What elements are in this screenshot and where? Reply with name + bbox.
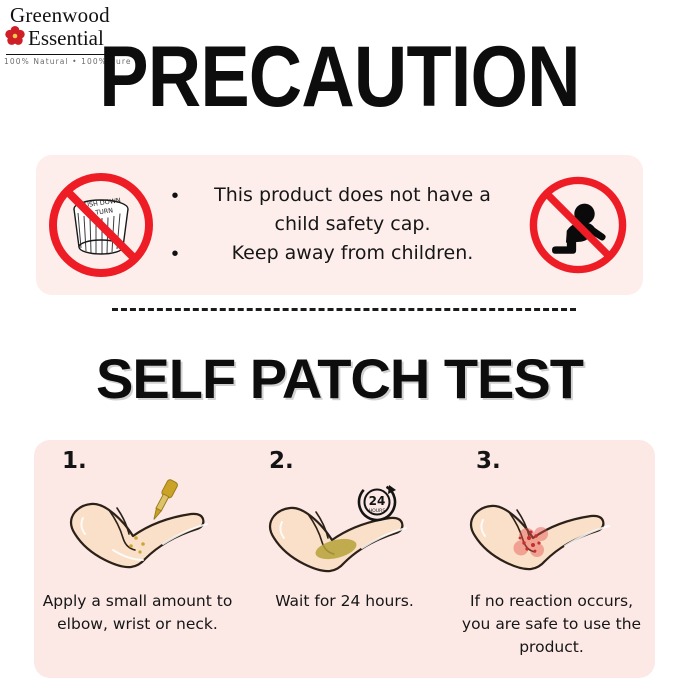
bullet-text: Keep away from children. bbox=[196, 239, 509, 268]
section-divider bbox=[112, 308, 576, 311]
elbow-with-24-hour-timer-icon: 24 HOURS bbox=[250, 472, 440, 590]
no-children-icon-slot bbox=[513, 173, 643, 277]
self-patch-test-steps-panel: 1. bbox=[34, 440, 655, 678]
no-child-safety-cap-icon: PUSH DOWN & TURN bbox=[45, 169, 157, 281]
page-title-self-patch-test: SELF PATCH TEST bbox=[0, 348, 679, 410]
step-card-2: 2. 24 bbox=[241, 440, 448, 678]
precaution-bullets: • This product does not have a child saf… bbox=[166, 181, 513, 269]
bullet-item: • Keep away from children. bbox=[166, 239, 509, 269]
step-number: 1. bbox=[62, 448, 87, 474]
page-title-precaution: PRECAUTION bbox=[48, 34, 632, 120]
step-number: 3. bbox=[476, 448, 501, 474]
step-caption: Wait for 24 hours. bbox=[267, 590, 422, 613]
bullet-text: This product does not have a child safet… bbox=[196, 181, 509, 239]
flower-icon bbox=[4, 25, 26, 52]
no-children-icon bbox=[526, 173, 630, 277]
precaution-panel: PUSH DOWN & TURN • This product does not… bbox=[36, 155, 643, 295]
bullet-item: • This product does not have a child saf… bbox=[166, 181, 509, 239]
elbow-with-rash-icon bbox=[457, 472, 647, 590]
bullet-dot-icon: • bbox=[166, 181, 184, 211]
step-card-3: 3. bbox=[448, 440, 655, 678]
step-number: 2. bbox=[269, 448, 294, 474]
timer-badge-value: 24 bbox=[368, 494, 385, 508]
step-caption: Apply a small amount to elbow, wrist or … bbox=[34, 590, 241, 636]
bullet-dot-icon: • bbox=[166, 239, 184, 269]
step-caption: If no reaction occurs, you are safe to u… bbox=[448, 590, 655, 659]
no-child-safety-cap-icon-slot: PUSH DOWN & TURN bbox=[36, 169, 166, 281]
elbow-with-dropper-icon bbox=[43, 472, 233, 590]
timer-badge-unit: HOURS bbox=[368, 508, 385, 514]
step-card-1: 1. bbox=[34, 440, 241, 678]
brand-name-line1: Greenwood bbox=[4, 4, 128, 26]
